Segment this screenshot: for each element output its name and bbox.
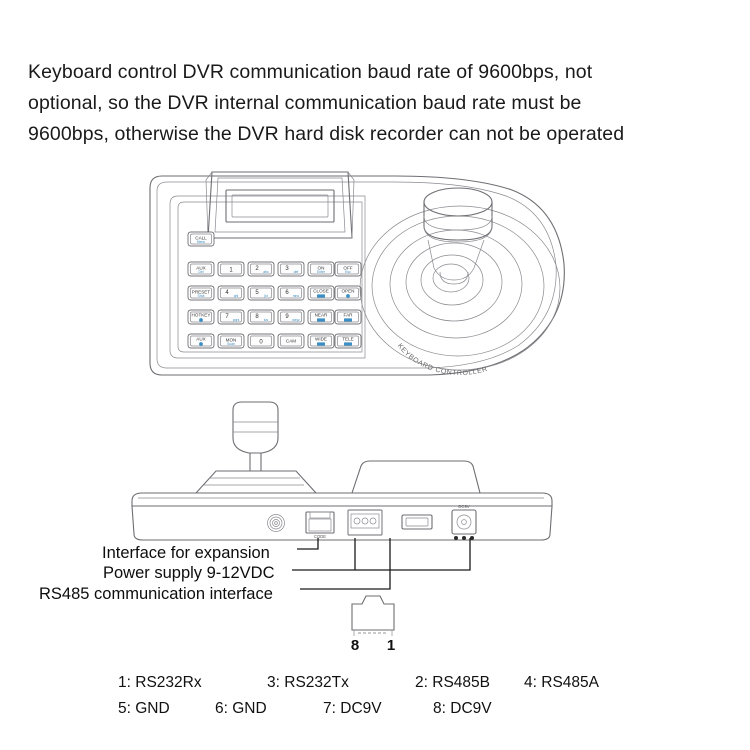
rj45-connector-outline — [352, 596, 394, 636]
key-label: CLOSE — [313, 289, 329, 294]
keyboard-rear-view-figure: CODE DC9V — [130, 398, 560, 548]
zoom-tele-icon — [344, 342, 352, 345]
zoom-wide-icon — [317, 342, 325, 345]
legend-pin-num: 1 — [118, 674, 127, 691]
key-wide-zoom[interactable]: WIDE — [308, 334, 334, 348]
focus-near-icon — [317, 318, 325, 321]
key-call-sub: Menu — [197, 240, 206, 244]
key-sublabel: wxyz — [292, 318, 300, 322]
dc-power-jack[interactable]: DC9V — [452, 504, 476, 540]
legend-sep: : — [276, 674, 280, 691]
legend-pin-name: RS485A — [541, 674, 599, 691]
key-1[interactable]: 1 — [218, 262, 244, 276]
intro-paragraph: Keyboard control DVR communication baud … — [28, 57, 728, 150]
legend-pin-num: 7 — [323, 700, 332, 717]
callout-power-supply: Power supply 9-12VDC — [103, 565, 275, 582]
lcd-housing-side — [352, 461, 480, 493]
key-sublabel: pqrs — [233, 318, 240, 322]
keypad-row: HOTKEY 7 pqrs 8 tuv 9 wxyz — [188, 310, 361, 324]
legend-pin-name: RS232Rx — [135, 674, 201, 691]
legend-cell: 7: DC9V — [323, 696, 382, 722]
key-7-pqrs[interactable]: 7 pqrs — [218, 310, 244, 324]
pin-number-left: 8 — [351, 637, 359, 654]
legend-sep: : — [533, 674, 537, 691]
legend-pin-name: DC9V — [450, 700, 491, 717]
legend-cell: 5: GND — [118, 696, 170, 722]
key-on-enter[interactable]: ON Enter — [308, 262, 334, 276]
key-sublabel: abc — [263, 270, 269, 274]
key-hotkey-set[interactable]: HOTKEY — [188, 310, 214, 324]
rear-panel-face — [132, 506, 552, 540]
brand-label: KEYBOARD CONTROLLER — [396, 343, 489, 377]
key-sublabel: tuv — [264, 318, 269, 322]
key-sublabel: def — [294, 270, 299, 274]
iris-close-icon — [317, 294, 325, 297]
legend-sep: : — [442, 700, 446, 717]
legend-row: 5: GND 6: GND 7: DC9V 8: DC9V — [118, 696, 638, 722]
device-top-deck — [132, 493, 552, 506]
legend-pin-name: GND — [232, 700, 266, 717]
key-4-ghi[interactable]: 4 ghi — [218, 286, 244, 300]
key-sublabel: Del — [198, 270, 203, 274]
terminal-block-port[interactable] — [348, 510, 382, 535]
legend-pin-num: 2 — [415, 674, 424, 691]
joystick-assembly[interactable]: KEYBOARD CONTROLLER — [360, 188, 560, 377]
key-sublabel: Shot — [198, 294, 205, 298]
connector-pinout-figure: 8 1 — [330, 592, 420, 654]
key-9-wxyz[interactable]: 9 wxyz — [278, 310, 304, 324]
key-label: HOTKEY — [192, 313, 211, 318]
speaker-grille-icon — [268, 515, 285, 532]
legend-sep: : — [127, 674, 131, 691]
key-label: CAM — [286, 339, 296, 344]
key-close-iris[interactable]: CLOSE — [308, 286, 334, 300]
key-far-focus[interactable]: FAR — [335, 310, 361, 324]
keypad-row: PRESET Shot 4 ghi 5 jkl 6 mno — [188, 286, 361, 300]
callout-rs485-interface: RS485 communication interface — [39, 586, 273, 603]
usb-slot-port[interactable] — [402, 515, 432, 529]
key-3-def[interactable]: 3 def — [278, 262, 304, 276]
pin-legend-table: 1: RS232Rx 3: RS232Tx 2: RS485B 4: RS485… — [118, 670, 638, 722]
key-label: TELE — [342, 337, 354, 342]
key-label: FAR — [344, 313, 354, 318]
key-aux-add[interactable]: AUX — [188, 334, 214, 348]
legend-pin-num: 3 — [267, 674, 276, 691]
key-5-jkl[interactable]: 5 jkl — [248, 286, 274, 300]
keypad-row: AUX Del 1 2 abc 3 def — [188, 262, 361, 276]
key-sublabel: ghi — [234, 294, 239, 298]
key-preset-shot[interactable]: PRESET Shot — [188, 286, 214, 300]
key-sublabel: mno — [293, 294, 300, 298]
brand-text-span: KEYBOARD CONTROLLER — [396, 343, 489, 377]
key-sublabel: Scan — [227, 342, 235, 346]
legend-row: 1: RS232Rx 3: RS232Tx 2: RS485B 4: RS485… — [118, 670, 638, 696]
key-aux-del[interactable]: AUX Del — [188, 262, 214, 276]
legend-pin-name: GND — [135, 700, 169, 717]
intro-line-3: 9600bps, otherwise the DVR hard disk rec… — [28, 119, 728, 150]
focus-far-icon — [344, 318, 352, 321]
joystick-knob[interactable] — [424, 188, 492, 284]
legend-pin-num: 6 — [215, 700, 224, 717]
legend-sep: : — [332, 700, 336, 717]
pin-number-right: 1 — [387, 637, 395, 654]
legend-sep: : — [224, 700, 228, 717]
joystick-side-view — [196, 402, 316, 493]
legend-sep: : — [127, 700, 131, 717]
key-label: NEAR — [315, 313, 328, 318]
key-sublabel: Enter — [317, 270, 326, 274]
iris-open-icon — [346, 294, 350, 298]
key-off-esc[interactable]: OFF Esc — [335, 262, 361, 276]
legend-pin-name: RS485B — [432, 674, 490, 691]
legend-cell: 4: RS485A — [524, 670, 599, 696]
key-sublabel: jkl — [263, 294, 267, 298]
key-cam[interactable]: CAM — [278, 334, 304, 348]
key-8-tuv[interactable]: 8 tuv — [248, 310, 274, 324]
dc-jack-label: DC9V — [458, 504, 469, 509]
key-near-focus[interactable]: NEAR — [308, 310, 334, 324]
key-mon-scan[interactable]: MON Scan — [218, 334, 244, 348]
legend-pin-name: DC9V — [340, 700, 381, 717]
intro-line-1: Keyboard control DVR communication baud … — [28, 57, 728, 88]
key-0[interactable]: 0 — [248, 334, 274, 348]
keypad-row: AUX MON Scan 0 CAM WIDE — [188, 334, 361, 348]
intro-line-2: optional, so the DVR internal communicat… — [28, 88, 728, 119]
legend-pin-num: 8 — [433, 700, 442, 717]
legend-cell: 3: RS232Tx — [267, 670, 349, 696]
callout-interface-expansion: Interface for expansion — [102, 545, 270, 562]
legend-sep: : — [424, 674, 428, 691]
rj45-port-label: CODE — [314, 534, 326, 539]
legend-pin-num: 4 — [524, 674, 533, 691]
key-call-menu[interactable]: CALL Menu — [188, 232, 214, 246]
key-label: OPEN — [341, 289, 354, 294]
legend-pin-name: RS232Tx — [284, 674, 349, 691]
legend-cell: 1: RS232Rx — [118, 670, 202, 696]
hotkey-dot-icon — [199, 318, 203, 322]
legend-cell: 8: DC9V — [433, 696, 492, 722]
legend-pin-num: 5 — [118, 700, 127, 717]
legend-cell: 2: RS485B — [415, 670, 490, 696]
key-label: AUX — [196, 337, 205, 342]
aux-dot-icon — [199, 342, 203, 346]
legend-cell: 6: GND — [215, 696, 267, 722]
key-open-iris[interactable]: OPEN — [335, 286, 361, 300]
key-2-abc[interactable]: 2 abc — [248, 262, 274, 276]
rj45-port[interactable]: CODE — [306, 512, 334, 539]
key-sublabel: Esc — [345, 270, 351, 274]
key-tele-zoom[interactable]: TELE — [335, 334, 361, 348]
keyboard-top-view-figure: CALL Menu AUX Del 1 2 abc — [140, 168, 570, 383]
key-6-mno[interactable]: 6 mno — [278, 286, 304, 300]
key-label: WIDE — [315, 337, 327, 342]
